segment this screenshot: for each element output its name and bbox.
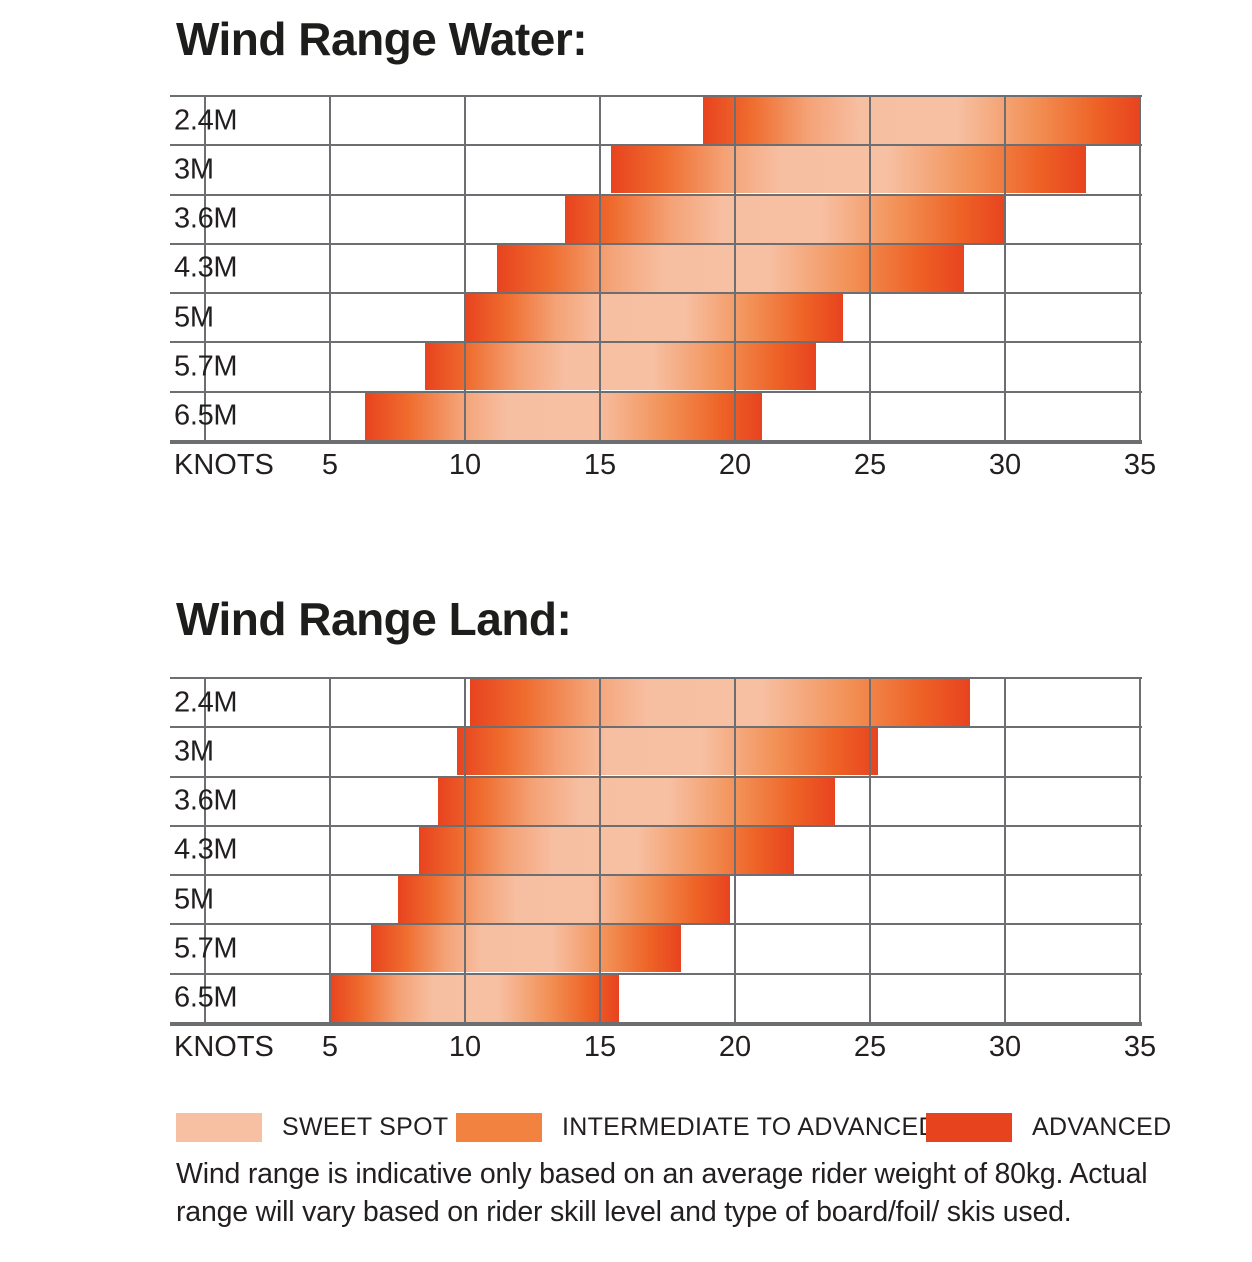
gridline-vertical — [869, 678, 871, 1023]
gridline-horizontal — [170, 243, 1142, 245]
gridline-horizontal — [170, 776, 1142, 778]
legend-item: INTERMEDIATE TO ADVANCED — [456, 1110, 937, 1144]
gridline-horizontal — [170, 1022, 1142, 1024]
gridline-horizontal — [170, 292, 1142, 294]
gridline-vertical — [329, 678, 331, 1023]
chart-row: 5.7M — [170, 924, 1142, 973]
gridline-vertical — [464, 96, 466, 441]
gridline-horizontal — [170, 194, 1142, 196]
gridline-vertical — [1004, 96, 1006, 441]
chart-row: 2.4M — [170, 96, 1142, 145]
axis-label-knots: KNOTS — [174, 449, 274, 482]
gridline-vertical — [734, 678, 736, 1023]
chart-row: 3M — [170, 727, 1142, 776]
chart-row: 2.4M — [170, 678, 1142, 727]
axis-tick-25: 25 — [854, 1031, 886, 1064]
wind-range-bar — [703, 97, 1140, 144]
legend-swatch — [176, 1113, 262, 1142]
row-label-5M: 5M — [174, 883, 214, 916]
gridline-vertical — [869, 96, 871, 441]
page-title-land: Wind Range Land: — [176, 596, 571, 642]
chart-row: 6.5M — [170, 974, 1142, 1023]
wind-range-infographic: Wind Range Water: 2.4M3M3.6M4.3M5M5.7M6.… — [0, 0, 1252, 1262]
chart-row: 5M — [170, 875, 1142, 924]
axis-tick-15: 15 — [584, 1031, 616, 1064]
axis-tick-20: 20 — [719, 449, 751, 482]
chart-water-axis: KNOTS 5101520253035 — [170, 441, 1142, 489]
legend-label: SWEET SPOT — [282, 1113, 448, 1142]
axis-tick-20: 20 — [719, 1031, 751, 1064]
gridline-horizontal — [170, 144, 1142, 146]
chart-land-axis: KNOTS 5101520253035 — [170, 1023, 1142, 1071]
axis-tick-35: 35 — [1124, 449, 1156, 482]
gridline-horizontal — [170, 95, 1142, 97]
gridline-horizontal — [170, 923, 1142, 925]
gridline-vertical — [1139, 96, 1141, 441]
gridline-vertical — [204, 96, 206, 441]
gridline-vertical — [734, 96, 736, 441]
page-title-water: Wind Range Water: — [176, 16, 587, 62]
axis-tick-30: 30 — [989, 1031, 1021, 1064]
gridline-vertical — [599, 96, 601, 441]
axis-tick-30: 30 — [989, 449, 1021, 482]
gridline-horizontal — [170, 726, 1142, 728]
wind-range-bar — [425, 343, 817, 390]
gridline-vertical — [464, 678, 466, 1023]
legend: SWEET SPOTINTERMEDIATE TO ADVANCEDADVANC… — [176, 1110, 1156, 1144]
legend-swatch — [456, 1113, 542, 1142]
gridline-horizontal — [170, 973, 1142, 975]
wind-range-bar — [465, 294, 843, 341]
wind-range-bar — [611, 146, 1086, 193]
row-label-3M: 3M — [174, 153, 214, 186]
chart-water: 2.4M3M3.6M4.3M5M5.7M6.5M KNOTS 510152025… — [170, 96, 1142, 489]
gridline-horizontal — [170, 391, 1142, 393]
axis-tick-35: 35 — [1124, 1031, 1156, 1064]
wind-range-bar — [371, 925, 682, 972]
chart-row: 3.6M — [170, 777, 1142, 826]
chart-row: 5M — [170, 293, 1142, 342]
wind-range-bar — [398, 876, 730, 923]
gridline-horizontal — [170, 874, 1142, 876]
chart-land-plot-area: 2.4M3M3.6M4.3M5M5.7M6.5M — [170, 678, 1142, 1023]
gridline-vertical — [1139, 678, 1141, 1023]
gridline-horizontal — [170, 825, 1142, 827]
wind-range-bar — [419, 827, 794, 874]
chart-row: 4.3M — [170, 244, 1142, 293]
wind-range-bar — [438, 778, 835, 825]
axis-tick-15: 15 — [584, 449, 616, 482]
wind-range-bar — [330, 975, 619, 1022]
footnote-text: Wind range is indicative only based on a… — [176, 1156, 1151, 1231]
chart-row: 5.7M — [170, 342, 1142, 391]
chart-land: 2.4M3M3.6M4.3M5M5.7M6.5M KNOTS 510152025… — [170, 678, 1142, 1071]
axis-tick-25: 25 — [854, 449, 886, 482]
axis-label-knots: KNOTS — [174, 1031, 274, 1064]
chart-row: 3.6M — [170, 195, 1142, 244]
wind-range-bar — [497, 245, 964, 292]
wind-range-bar — [565, 196, 1005, 243]
axis-tick-5: 5 — [322, 449, 338, 482]
wind-range-bar — [470, 679, 970, 726]
chart-water-plot-area: 2.4M3M3.6M4.3M5M5.7M6.5M — [170, 96, 1142, 441]
wind-range-bar — [457, 728, 878, 775]
legend-label: INTERMEDIATE TO ADVANCED — [562, 1113, 937, 1142]
legend-swatch — [926, 1113, 1012, 1142]
wind-range-bar — [365, 393, 762, 440]
legend-item: ADVANCED — [926, 1110, 1171, 1144]
axis-tick-10: 10 — [449, 449, 481, 482]
chart-row: 3M — [170, 145, 1142, 194]
gridline-vertical — [204, 678, 206, 1023]
axis-tick-5: 5 — [322, 1031, 338, 1064]
legend-item: SWEET SPOT — [176, 1110, 448, 1144]
gridline-horizontal — [170, 341, 1142, 343]
gridline-horizontal — [170, 440, 1142, 442]
chart-row: 4.3M — [170, 826, 1142, 875]
row-label-3M: 3M — [174, 735, 214, 768]
gridline-horizontal — [170, 677, 1142, 679]
chart-row: 6.5M — [170, 392, 1142, 441]
row-label-5M: 5M — [174, 301, 214, 334]
axis-tick-10: 10 — [449, 1031, 481, 1064]
legend-label: ADVANCED — [1032, 1113, 1171, 1142]
gridline-vertical — [1004, 678, 1006, 1023]
gridline-vertical — [329, 96, 331, 441]
gridline-vertical — [599, 678, 601, 1023]
